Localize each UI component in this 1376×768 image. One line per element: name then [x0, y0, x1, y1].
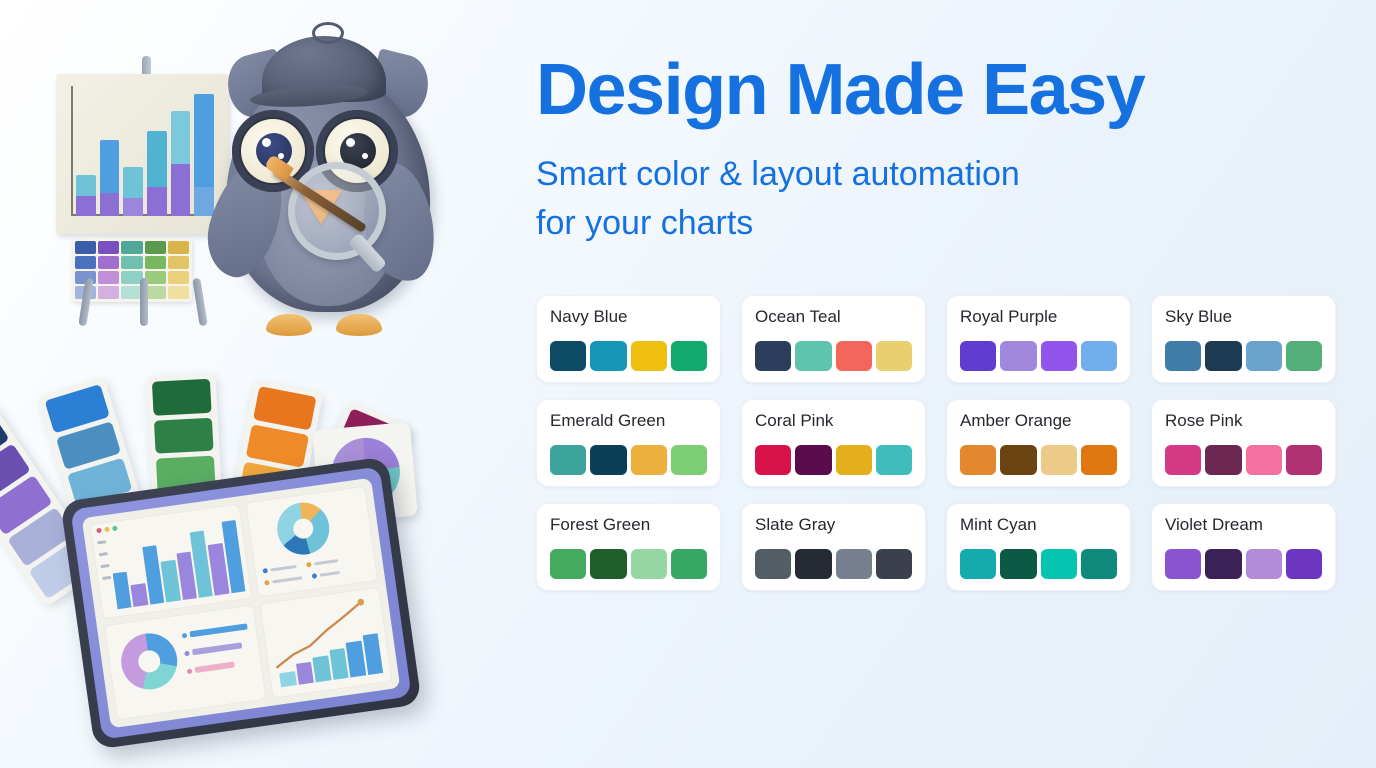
color-swatch[interactable] — [1205, 341, 1241, 371]
color-swatch[interactable] — [836, 445, 872, 475]
palette-swatches — [960, 341, 1117, 371]
palette-swatches — [550, 549, 707, 579]
color-swatch[interactable] — [1081, 341, 1117, 371]
dashboard-bar-chart — [107, 514, 246, 609]
palette-card[interactable]: Amber Orange — [946, 399, 1131, 487]
color-swatch[interactable] — [876, 341, 912, 371]
palette-name: Rose Pink — [1165, 412, 1322, 429]
palette-name: Navy Blue — [550, 308, 707, 325]
color-swatch[interactable] — [1000, 341, 1036, 371]
palette-swatches — [960, 445, 1117, 475]
color-swatch[interactable] — [550, 549, 586, 579]
color-swatch[interactable] — [671, 445, 707, 475]
donut-list-panel — [104, 604, 267, 720]
color-swatch[interactable] — [1246, 341, 1282, 371]
palette-fan-and-tablet-illustration — [16, 378, 476, 766]
palette-name: Mint Cyan — [960, 516, 1117, 533]
palette-card[interactable]: Ocean Teal — [741, 295, 926, 383]
color-swatch[interactable] — [836, 549, 872, 579]
color-swatch[interactable] — [1041, 445, 1077, 475]
palette-card[interactable]: Rose Pink — [1151, 399, 1336, 487]
palette-swatches — [1165, 445, 1322, 475]
color-swatch[interactable] — [836, 341, 872, 371]
dashboard-screen — [82, 478, 401, 729]
dashboard-tablet — [60, 456, 422, 749]
easel-leg-middle — [140, 278, 148, 326]
palette-swatches — [755, 341, 912, 371]
color-swatch[interactable] — [1165, 549, 1201, 579]
illustration-column — [0, 0, 512, 768]
color-swatch[interactable] — [590, 549, 626, 579]
color-swatch[interactable] — [1205, 549, 1241, 579]
palette-name: Ocean Teal — [755, 308, 912, 325]
palette-name: Emerald Green — [550, 412, 707, 429]
color-swatch[interactable] — [1081, 445, 1117, 475]
easel-chart-board — [56, 74, 228, 234]
color-swatch[interactable] — [1246, 445, 1282, 475]
color-swatch[interactable] — [876, 549, 912, 579]
palette-name: Violet Dream — [1165, 516, 1322, 533]
palette-card[interactable]: Coral Pink — [741, 399, 926, 487]
palette-card[interactable]: Emerald Green — [536, 399, 721, 487]
detective-hat-knot — [312, 22, 344, 44]
color-swatch[interactable] — [1165, 445, 1201, 475]
color-swatch[interactable] — [1041, 549, 1077, 579]
color-swatch[interactable] — [876, 445, 912, 475]
page-title: Design Made Easy — [536, 0, 1340, 126]
line-bar-chart-panel — [259, 587, 392, 699]
color-swatch[interactable] — [631, 445, 667, 475]
palette-card[interactable]: Royal Purple — [946, 295, 1131, 383]
color-swatch[interactable] — [590, 445, 626, 475]
palette-name: Sky Blue — [1165, 308, 1322, 325]
palette-name: Royal Purple — [960, 308, 1117, 325]
palette-name: Coral Pink — [755, 412, 912, 429]
color-swatch[interactable] — [1286, 549, 1322, 579]
color-swatch[interactable] — [960, 445, 996, 475]
color-swatch[interactable] — [671, 341, 707, 371]
color-swatch[interactable] — [1081, 549, 1117, 579]
bar-chart-panel — [90, 503, 253, 619]
chart-y-axis — [71, 86, 73, 216]
easel-bar-chart — [76, 94, 214, 216]
color-swatch[interactable] — [671, 549, 707, 579]
palette-card[interactable]: Sky Blue — [1151, 295, 1336, 383]
color-swatch[interactable] — [1041, 341, 1077, 371]
page-root: Design Made Easy Smart color & layout au… — [0, 0, 1376, 768]
palette-swatches — [755, 549, 912, 579]
color-swatch[interactable] — [631, 549, 667, 579]
page-subtitle: Smart color & layout automation for your… — [536, 150, 1236, 249]
palette-card[interactable]: Navy Blue — [536, 295, 721, 383]
palette-name: Amber Orange — [960, 412, 1117, 429]
color-swatch[interactable] — [1286, 341, 1322, 371]
palette-swatches — [1165, 341, 1322, 371]
owl-foot-right — [336, 314, 382, 336]
color-swatch[interactable] — [1246, 549, 1282, 579]
color-swatch[interactable] — [631, 341, 667, 371]
tablet-bezel — [70, 466, 411, 739]
color-swatch[interactable] — [795, 341, 831, 371]
owl-detective-illustration — [28, 8, 480, 348]
color-swatch[interactable] — [1000, 445, 1036, 475]
subtitle-line-1: Smart color & layout automation — [536, 155, 1020, 193]
subtitle-line-2: for your charts — [536, 204, 753, 242]
color-swatch[interactable] — [1286, 445, 1322, 475]
palette-card[interactable]: Forest Green — [536, 503, 721, 591]
color-swatch[interactable] — [1205, 445, 1241, 475]
palette-swatches — [755, 445, 912, 475]
owl-character — [204, 14, 452, 336]
color-swatch[interactable] — [755, 341, 791, 371]
color-swatch[interactable] — [590, 341, 626, 371]
color-swatch[interactable] — [795, 445, 831, 475]
palette-swatches — [550, 445, 707, 475]
owl-foot-left — [266, 314, 312, 336]
color-swatch[interactable] — [795, 549, 831, 579]
color-swatch[interactable] — [960, 341, 996, 371]
color-swatch[interactable] — [1165, 341, 1201, 371]
color-swatch[interactable] — [960, 549, 996, 579]
color-swatch[interactable] — [755, 549, 791, 579]
palette-card[interactable]: Mint Cyan — [946, 503, 1131, 591]
color-swatch[interactable] — [550, 341, 586, 371]
color-swatch[interactable] — [550, 445, 586, 475]
content-column: Design Made Easy Smart color & layout au… — [512, 0, 1376, 768]
palette-grid: Navy Blue Ocean Teal Royal Pur — [536, 295, 1340, 591]
palette-swatches — [960, 549, 1117, 579]
palette-name: Slate Gray — [755, 516, 912, 533]
donut-chart-panel — [245, 486, 378, 598]
palette-swatches — [1165, 549, 1322, 579]
palette-card[interactable]: Slate Gray — [741, 503, 926, 591]
palette-name: Forest Green — [550, 516, 707, 533]
color-swatch[interactable] — [755, 445, 791, 475]
palette-swatches — [550, 341, 707, 371]
palette-card[interactable]: Violet Dream — [1151, 503, 1336, 591]
color-swatch[interactable] — [1000, 549, 1036, 579]
